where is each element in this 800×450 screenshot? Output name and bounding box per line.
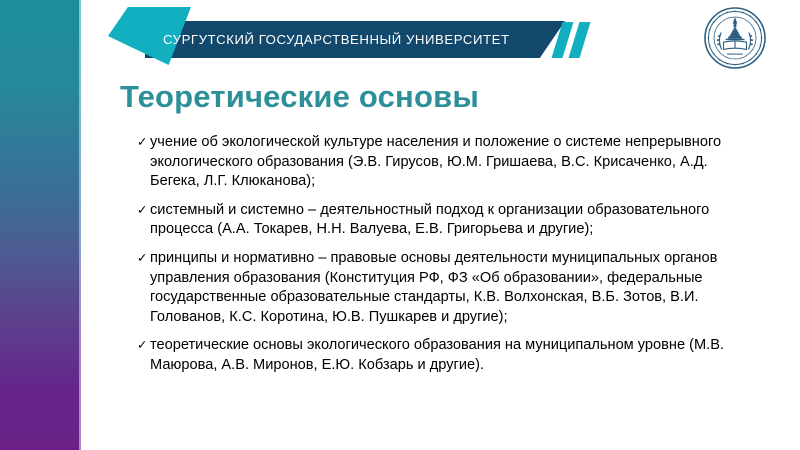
page-title: Теоретические основы [120, 79, 479, 115]
checkmark-icon: ✓ [137, 201, 147, 221]
university-seal-logo [703, 6, 767, 70]
left-gradient-strip [0, 0, 79, 450]
list-item-text: принципы и нормативно – правовые основы … [150, 249, 737, 327]
list-item-text: учение об экологической культуре населен… [150, 133, 737, 192]
banner-title-text: СУРГУТСКИЙ ГОСУДАРСТВЕННЫЙ УНИВЕРСИТЕТ [163, 28, 553, 52]
list-item: ✓ теоретические основы экологического об… [137, 336, 737, 375]
bullet-list: ✓ учение об экологической культуре насел… [137, 133, 737, 376]
list-item: ✓ системный и системно – деятельностный … [137, 201, 737, 240]
list-item: ✓ принципы и нормативно – правовые основ… [137, 249, 737, 327]
presentation-slide: СУРГУТСКИЙ ГОСУДАРСТВЕННЫЙ УНИВЕРСИТЕТ [0, 0, 800, 450]
list-item: ✓ учение об экологической культуре насел… [137, 133, 737, 192]
header-banner: СУРГУТСКИЙ ГОСУДАРСТВЕННЫЙ УНИВЕРСИТЕТ [108, 6, 608, 66]
checkmark-icon: ✓ [137, 336, 147, 356]
checkmark-icon: ✓ [137, 133, 147, 153]
checkmark-icon: ✓ [137, 249, 147, 269]
list-item-text: системный и системно – деятельностный по… [150, 201, 737, 240]
list-item-text: теоретические основы экологического обра… [150, 336, 737, 375]
left-strip-edge-line [79, 0, 81, 450]
